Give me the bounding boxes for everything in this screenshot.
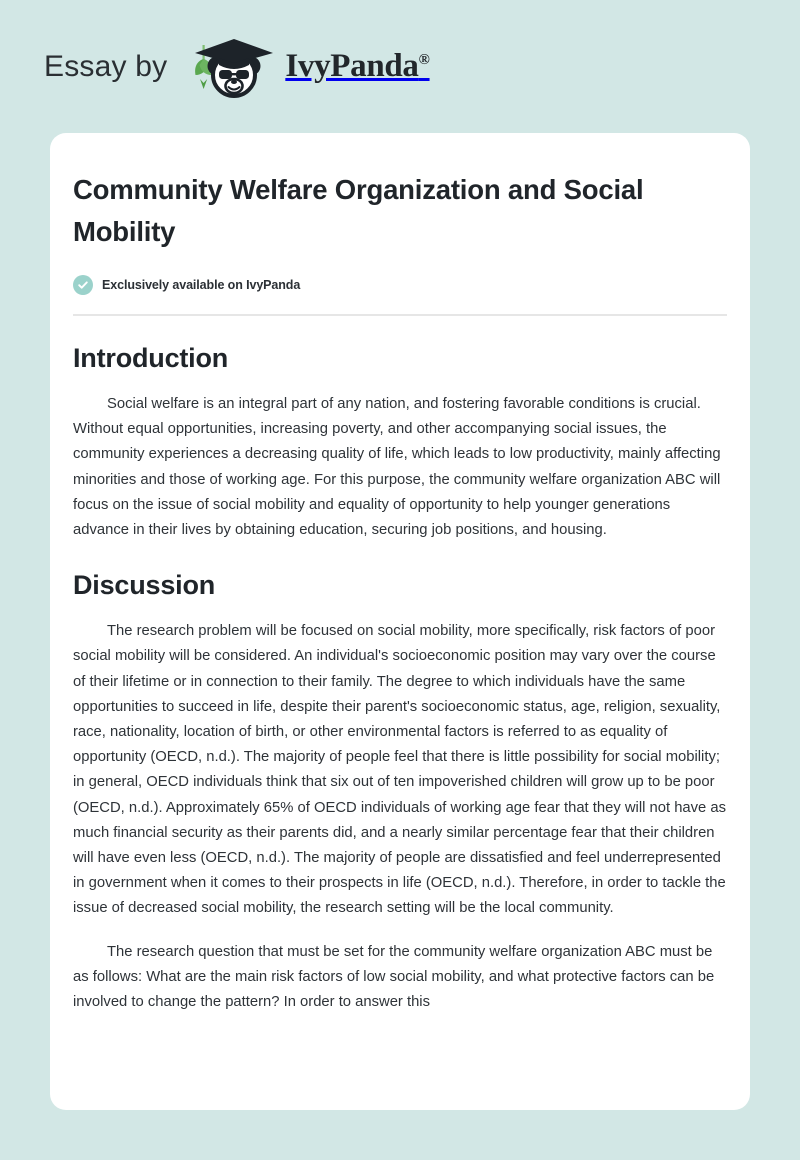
page-title: Community Welfare Organization and Socia… bbox=[73, 169, 727, 253]
essay-by-label: Essay by bbox=[44, 50, 167, 84]
section-heading-introduction: Introduction bbox=[73, 343, 727, 374]
ivypanda-panda-graduation-logo-icon bbox=[181, 31, 281, 103]
brand-name-text: IvyPanda bbox=[285, 48, 418, 84]
title-divider bbox=[73, 314, 727, 316]
essay-card: Community Welfare Organization and Socia… bbox=[50, 133, 750, 1110]
section-heading-discussion: Discussion bbox=[73, 570, 727, 601]
registered-trademark-mark: ® bbox=[419, 52, 430, 68]
status-badge: Exclusively available on IvyPanda bbox=[73, 275, 727, 295]
ivypanda-logo-link[interactable]: IvyPanda® bbox=[181, 31, 429, 103]
paragraph-introduction-1: Social welfare is an integral part of an… bbox=[73, 392, 727, 543]
paragraph-discussion-1: The research problem will be focused on … bbox=[73, 619, 727, 921]
check-circle-icon bbox=[73, 275, 93, 295]
site-header: Essay by bbox=[0, 0, 800, 133]
paragraph-discussion-2: The research question that must be set f… bbox=[73, 940, 727, 1016]
status-badge-label: Exclusively available on IvyPanda bbox=[102, 278, 300, 292]
ivypanda-wordmark: IvyPanda® bbox=[285, 48, 429, 85]
